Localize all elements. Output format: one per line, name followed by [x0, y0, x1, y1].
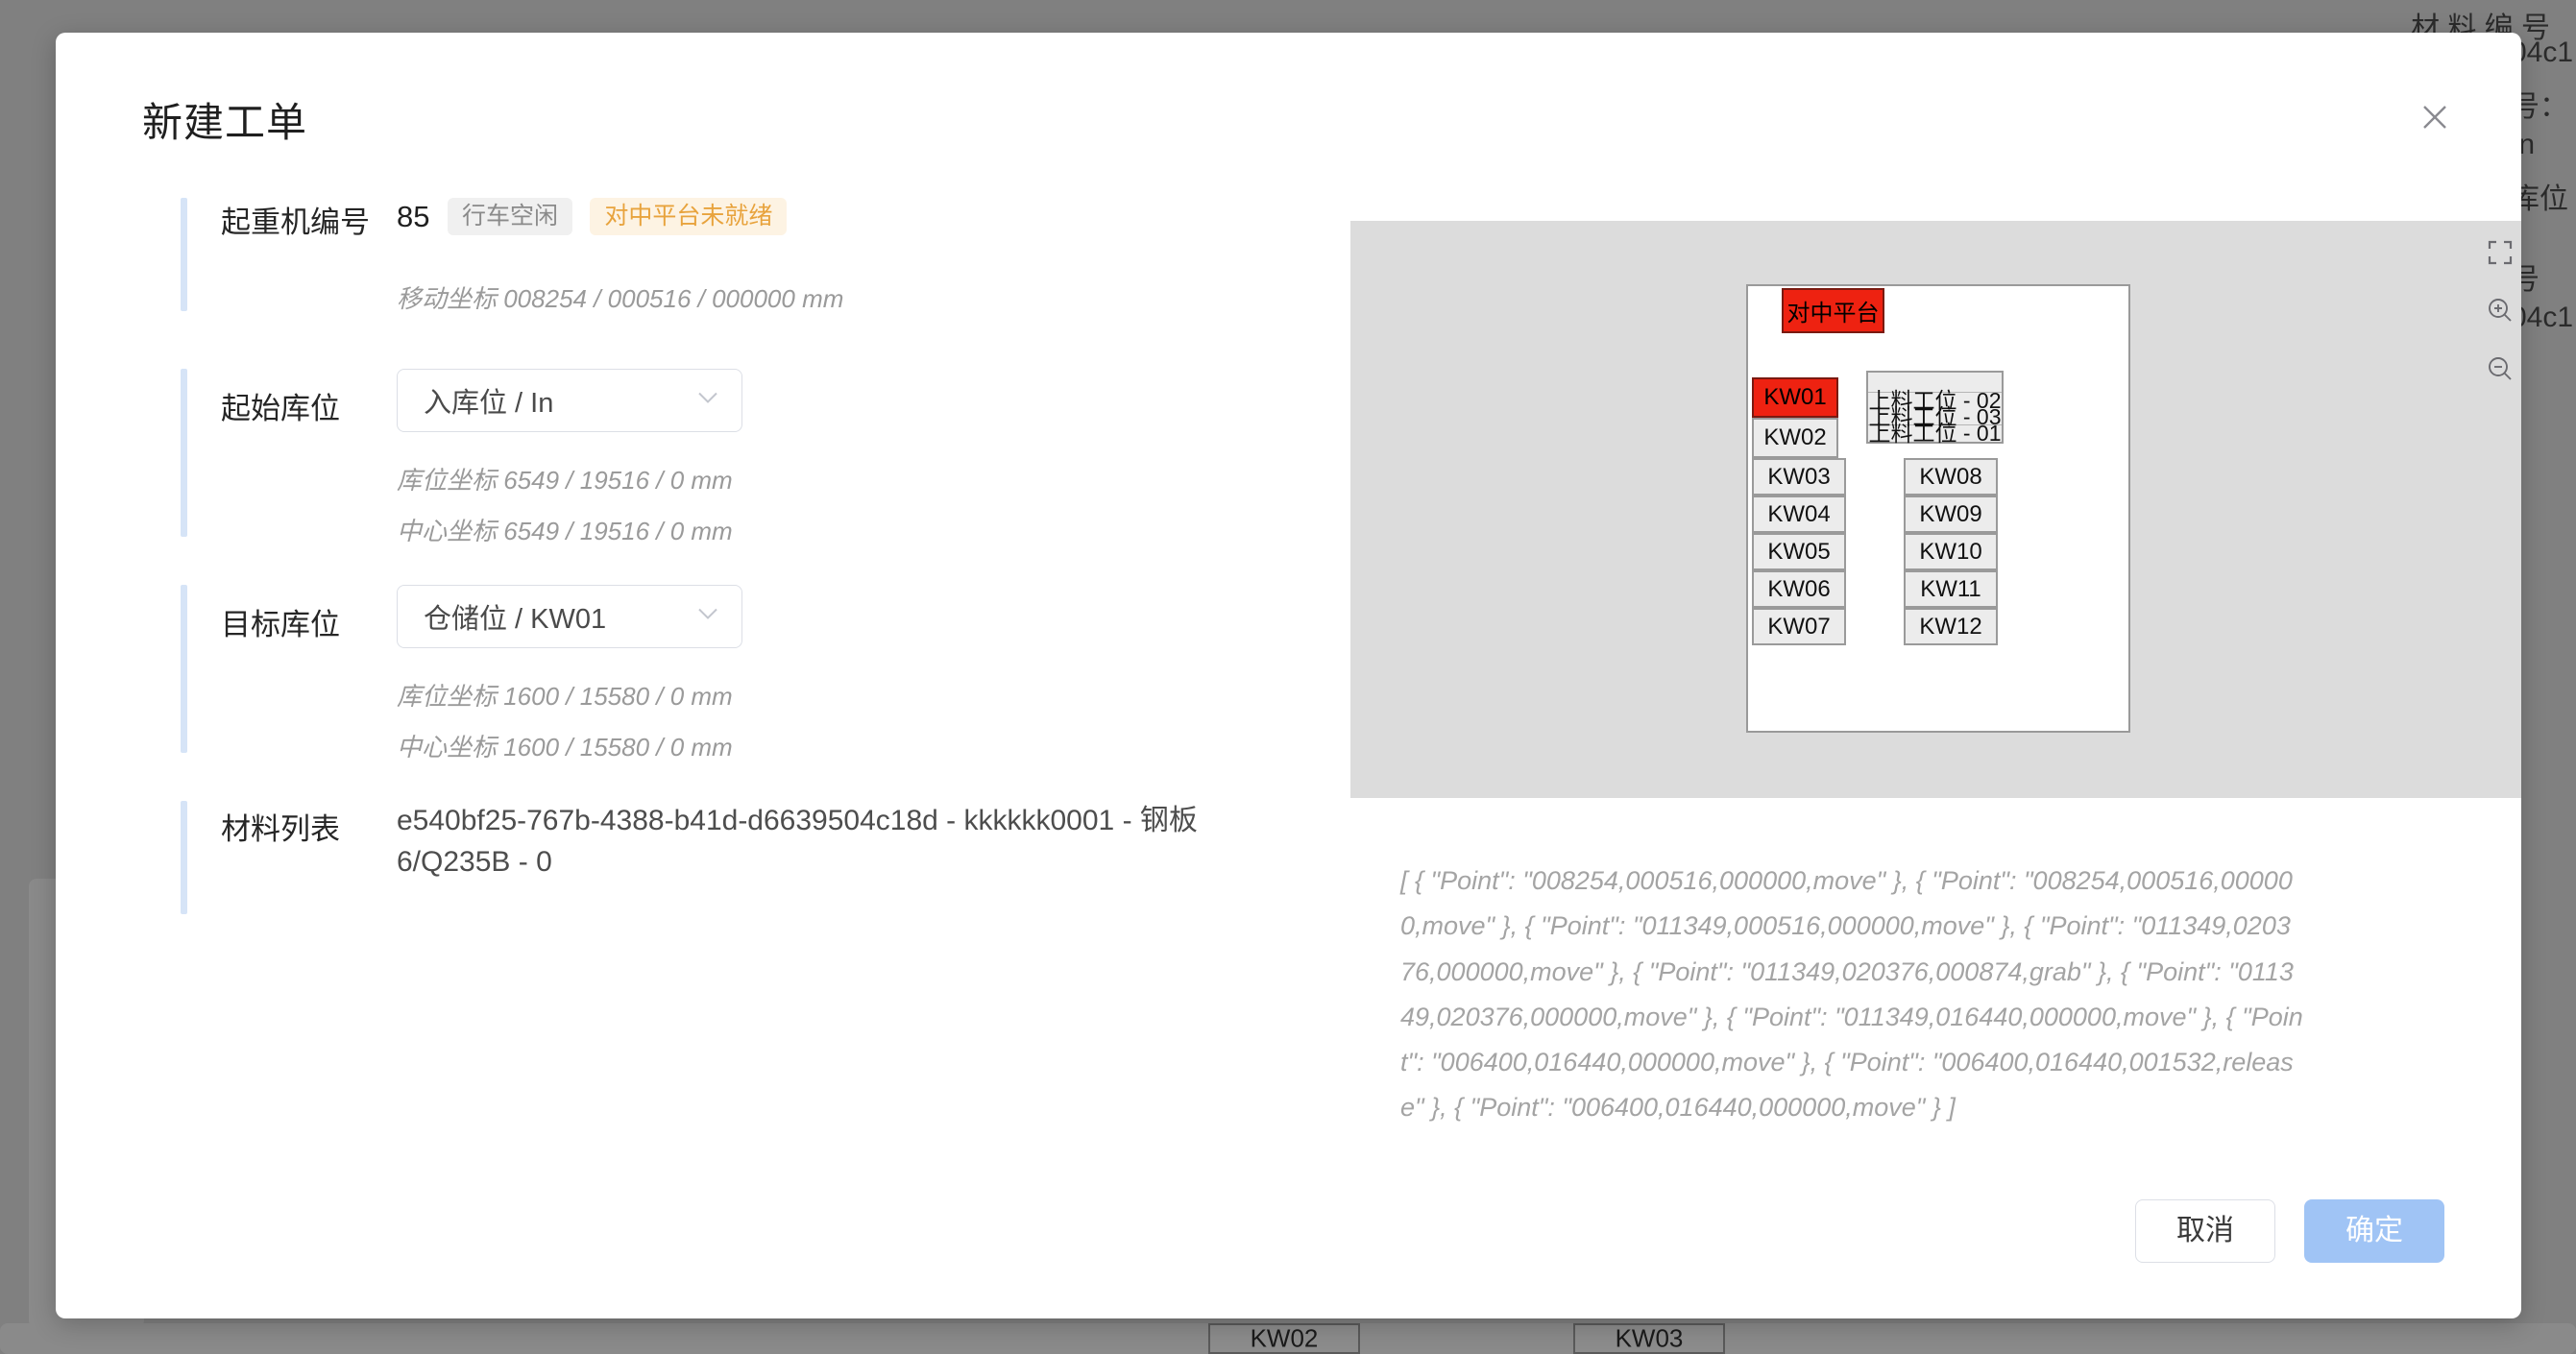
slot-kw08[interactable]: KW08	[1904, 458, 1998, 496]
fullscreen-icon[interactable]	[2488, 240, 2513, 270]
background-slot-label: KW03	[1575, 1324, 1723, 1354]
background-slot-box: KW03	[1573, 1323, 1725, 1354]
slot-kw09[interactable]: KW09	[1904, 496, 1998, 533]
new-work-order-dialog: 新建工单 起重机编号 85 行车空闲 对中平台未就绪 移动坐标 008254 /…	[56, 33, 2521, 1318]
form-column: 起重机编号 85 行车空闲 对中平台未就绪 移动坐标 008254 / 0005…	[56, 177, 1295, 1318]
slot-label: KW06	[1767, 576, 1830, 603]
slot-label: KW04	[1767, 501, 1830, 528]
field-accent-bar	[181, 369, 187, 537]
status-badge: 行车空闲	[448, 198, 572, 235]
slot-label: KW09	[1919, 501, 1981, 528]
slot-label: KW02	[1763, 424, 1826, 451]
slot-label: KW07	[1767, 614, 1830, 641]
crane-path-json: [ { "Point": "008254,000516,000000,move"…	[1400, 858, 2303, 1131]
dialog-header: 新建工单	[56, 33, 2521, 177]
slot-kw06[interactable]: KW06	[1752, 570, 1846, 608]
slot-label: KW12	[1919, 614, 1981, 641]
slot-kw04[interactable]: KW04	[1752, 496, 1846, 533]
slot-label: KW05	[1767, 539, 1830, 566]
page-title: 新建工单	[142, 90, 307, 149]
slot-label: KW11	[1920, 576, 1981, 603]
close-icon[interactable]	[2416, 98, 2454, 136]
field-label: 材料列表	[221, 805, 340, 848]
station-label-01[interactable]: 上料工位 - 01	[1866, 415, 2004, 447]
field-label: 目标库位	[221, 600, 340, 643]
slot-label: KW03	[1767, 464, 1830, 491]
zoom-out-icon[interactable]	[2487, 355, 2514, 387]
zoom-in-icon[interactable]	[2487, 297, 2514, 328]
background-slot-box: KW02	[1208, 1323, 1360, 1354]
warning-badge: 对中平台未就绪	[590, 198, 787, 235]
field-accent-bar	[181, 198, 187, 311]
chevron-down-icon	[697, 392, 718, 410]
slot-kw07[interactable]: KW07	[1752, 608, 1846, 645]
target-slot-coordinate-hint: 库位坐标 1600 / 15580 / 0 mm	[397, 677, 742, 713]
source-slot-coordinate-hint: 库位坐标 6549 / 19516 / 0 mm	[397, 461, 742, 496]
source-location-value: 入库位 / In	[424, 380, 553, 421]
source-location-select[interactable]: 入库位 / In	[397, 369, 742, 432]
slot-kw01[interactable]: KW01	[1752, 377, 1838, 418]
slot-kw10[interactable]: KW10	[1904, 533, 1998, 570]
crane-move-coordinate-hint: 移动坐标 008254 / 000516 / 000000 mm	[397, 279, 843, 315]
confirm-button[interactable]: 确定	[2304, 1199, 2444, 1263]
target-center-coordinate-hint: 中心坐标 1600 / 15580 / 0 mm	[397, 728, 742, 763]
field-label: 起重机编号	[221, 198, 370, 241]
slot-label: KW08	[1919, 464, 1981, 491]
slot-label: 对中平台	[1787, 294, 1880, 327]
background-slot-label: KW02	[1210, 1324, 1358, 1354]
viz-toolbar	[2487, 240, 2514, 387]
crane-id-value: 85	[397, 202, 429, 231]
target-location-value: 仓储位 / KW01	[424, 596, 606, 637]
slot-kw03[interactable]: KW03	[1752, 458, 1846, 496]
field-accent-bar	[181, 801, 187, 914]
dialog-footer: 取消 确定	[2135, 1199, 2444, 1263]
target-location-select[interactable]: 仓储位 / KW01	[397, 585, 742, 648]
material-list-value: e540bf25-767b-4388-b41d-d6639504c18d - k…	[397, 801, 1290, 883]
cancel-button[interactable]: 取消	[2135, 1199, 2275, 1263]
source-center-coordinate-hint: 中心坐标 6549 / 19516 / 0 mm	[397, 512, 742, 547]
field-label: 起始库位	[221, 384, 340, 427]
slot-label: KW01	[1763, 384, 1826, 411]
slot-kw02[interactable]: KW02	[1752, 418, 1838, 458]
slot-centering-platform[interactable]: 对中平台	[1782, 288, 1884, 333]
slot-kw12[interactable]: KW12	[1904, 608, 1998, 645]
field-accent-bar	[181, 585, 187, 753]
slot-label: KW10	[1919, 539, 1981, 566]
warehouse-layout-frame: 对中平台 KW01 KW02 KW03 KW04 KW05 KW06	[1746, 284, 2130, 733]
slot-kw05[interactable]: KW05	[1752, 533, 1846, 570]
chevron-down-icon	[697, 608, 718, 626]
warehouse-layout-panel: 对中平台 KW01 KW02 KW03 KW04 KW05 KW06	[1350, 221, 2521, 798]
slot-kw11[interactable]: KW11	[1904, 570, 1998, 608]
